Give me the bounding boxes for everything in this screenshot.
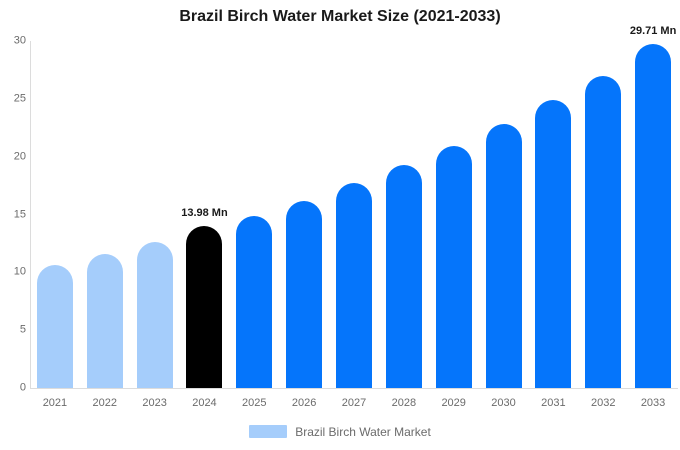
bar-value-label: 13.98 Mn — [159, 208, 249, 219]
x-axis-tick-label: 2033 — [628, 398, 678, 409]
y-axis-tick-label: 20 — [2, 151, 26, 162]
y-axis-tick-labels: 051015202530 — [0, 0, 26, 450]
bar[interactable] — [37, 265, 73, 388]
bar[interactable] — [87, 254, 123, 388]
x-axis-tick-label: 2021 — [30, 398, 80, 409]
bar[interactable] — [236, 216, 272, 388]
chart-legend: Brazil Birch Water Market — [0, 425, 680, 438]
bar[interactable] — [486, 124, 522, 388]
bar[interactable] — [635, 44, 671, 388]
bar[interactable] — [336, 183, 372, 388]
y-axis-tick-label: 15 — [2, 209, 26, 220]
x-axis-tick-label: 2029 — [429, 398, 479, 409]
bar[interactable] — [186, 226, 222, 388]
bar[interactable] — [436, 146, 472, 388]
y-axis-tick-label: 5 — [2, 325, 26, 336]
x-axis-tick-label: 2027 — [329, 398, 379, 409]
x-axis-tick-label: 2026 — [279, 398, 329, 409]
legend-label: Brazil Birch Water Market — [295, 426, 431, 438]
y-axis-tick-label: 10 — [2, 267, 26, 278]
bar[interactable] — [137, 242, 173, 388]
x-axis-tick-label: 2023 — [130, 398, 180, 409]
y-axis-tick-label: 30 — [2, 36, 26, 47]
x-axis-tick-label: 2025 — [229, 398, 279, 409]
x-axis-tick-label: 2030 — [479, 398, 529, 409]
x-axis-tick-label: 2031 — [528, 398, 578, 409]
bar[interactable] — [585, 76, 621, 388]
bar-value-label: 29.71 Mn — [608, 26, 680, 37]
x-axis-tick-label: 2028 — [379, 398, 429, 409]
bar[interactable] — [386, 165, 422, 388]
legend-swatch — [249, 425, 287, 438]
chart-container: Brazil Birch Water Market Size (2021-203… — [0, 0, 680, 450]
x-axis-tick-label: 2022 — [80, 398, 130, 409]
bars-layer: 20212022202313.98 Mn20242025202620272028… — [30, 0, 678, 450]
y-axis-tick-label: 25 — [2, 93, 26, 104]
bar[interactable] — [286, 201, 322, 388]
x-axis-tick-label: 2032 — [578, 398, 628, 409]
bar[interactable] — [535, 100, 571, 388]
y-axis-tick-label: 0 — [2, 383, 26, 394]
x-axis-tick-label: 2024 — [179, 398, 229, 409]
